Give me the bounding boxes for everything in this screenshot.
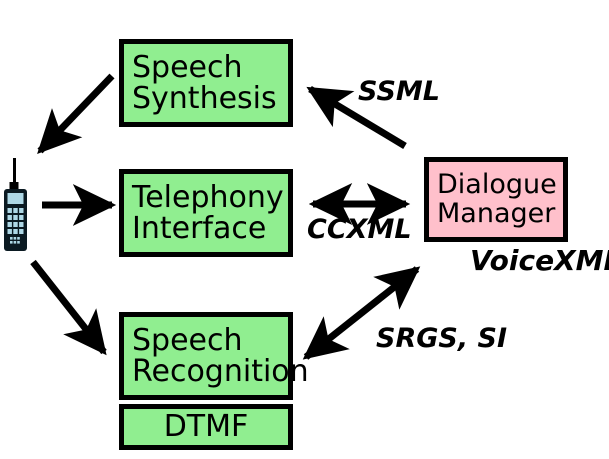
node-speech-recognition-line2: Recognition [132, 356, 309, 387]
edge-label-srgs: SRGS, SI [376, 323, 507, 354]
node-speech-recognition-line1: Speech [132, 325, 243, 356]
node-speech-synthesis-line1: Speech [132, 52, 243, 83]
node-telephony-interface-line1: Telephony [132, 182, 284, 213]
node-dialogue-manager-line2: Manager [437, 200, 555, 228]
node-telephony-interface[interactable]: Telephony Interface [119, 169, 293, 257]
node-speech-synthesis[interactable]: Speech Synthesis [119, 39, 293, 127]
edge-label-voicexml: VoiceXML [470, 244, 609, 277]
edge-label-ssml: SSML [358, 76, 440, 107]
node-dialogue-manager-line1: Dialogue [437, 171, 557, 199]
node-dtmf-label: DTMF [164, 411, 249, 442]
arrow-synthesis-to-phone [40, 76, 112, 151]
diagram-canvas: Speech Synthesis Telephony Interface Spe… [0, 0, 609, 459]
node-telephony-interface-line2: Interface [132, 213, 266, 244]
node-speech-synthesis-line2: Synthesis [132, 83, 277, 114]
node-speech-recognition[interactable]: Speech Recognition [119, 312, 293, 400]
node-dtmf[interactable]: DTMF [119, 404, 293, 450]
mobile-phone-icon [2, 158, 32, 254]
arrow-phone-to-recognition [33, 262, 104, 352]
edge-label-ccxml: CCXML [307, 214, 412, 245]
node-dialogue-manager[interactable]: Dialogue Manager [424, 157, 568, 242]
